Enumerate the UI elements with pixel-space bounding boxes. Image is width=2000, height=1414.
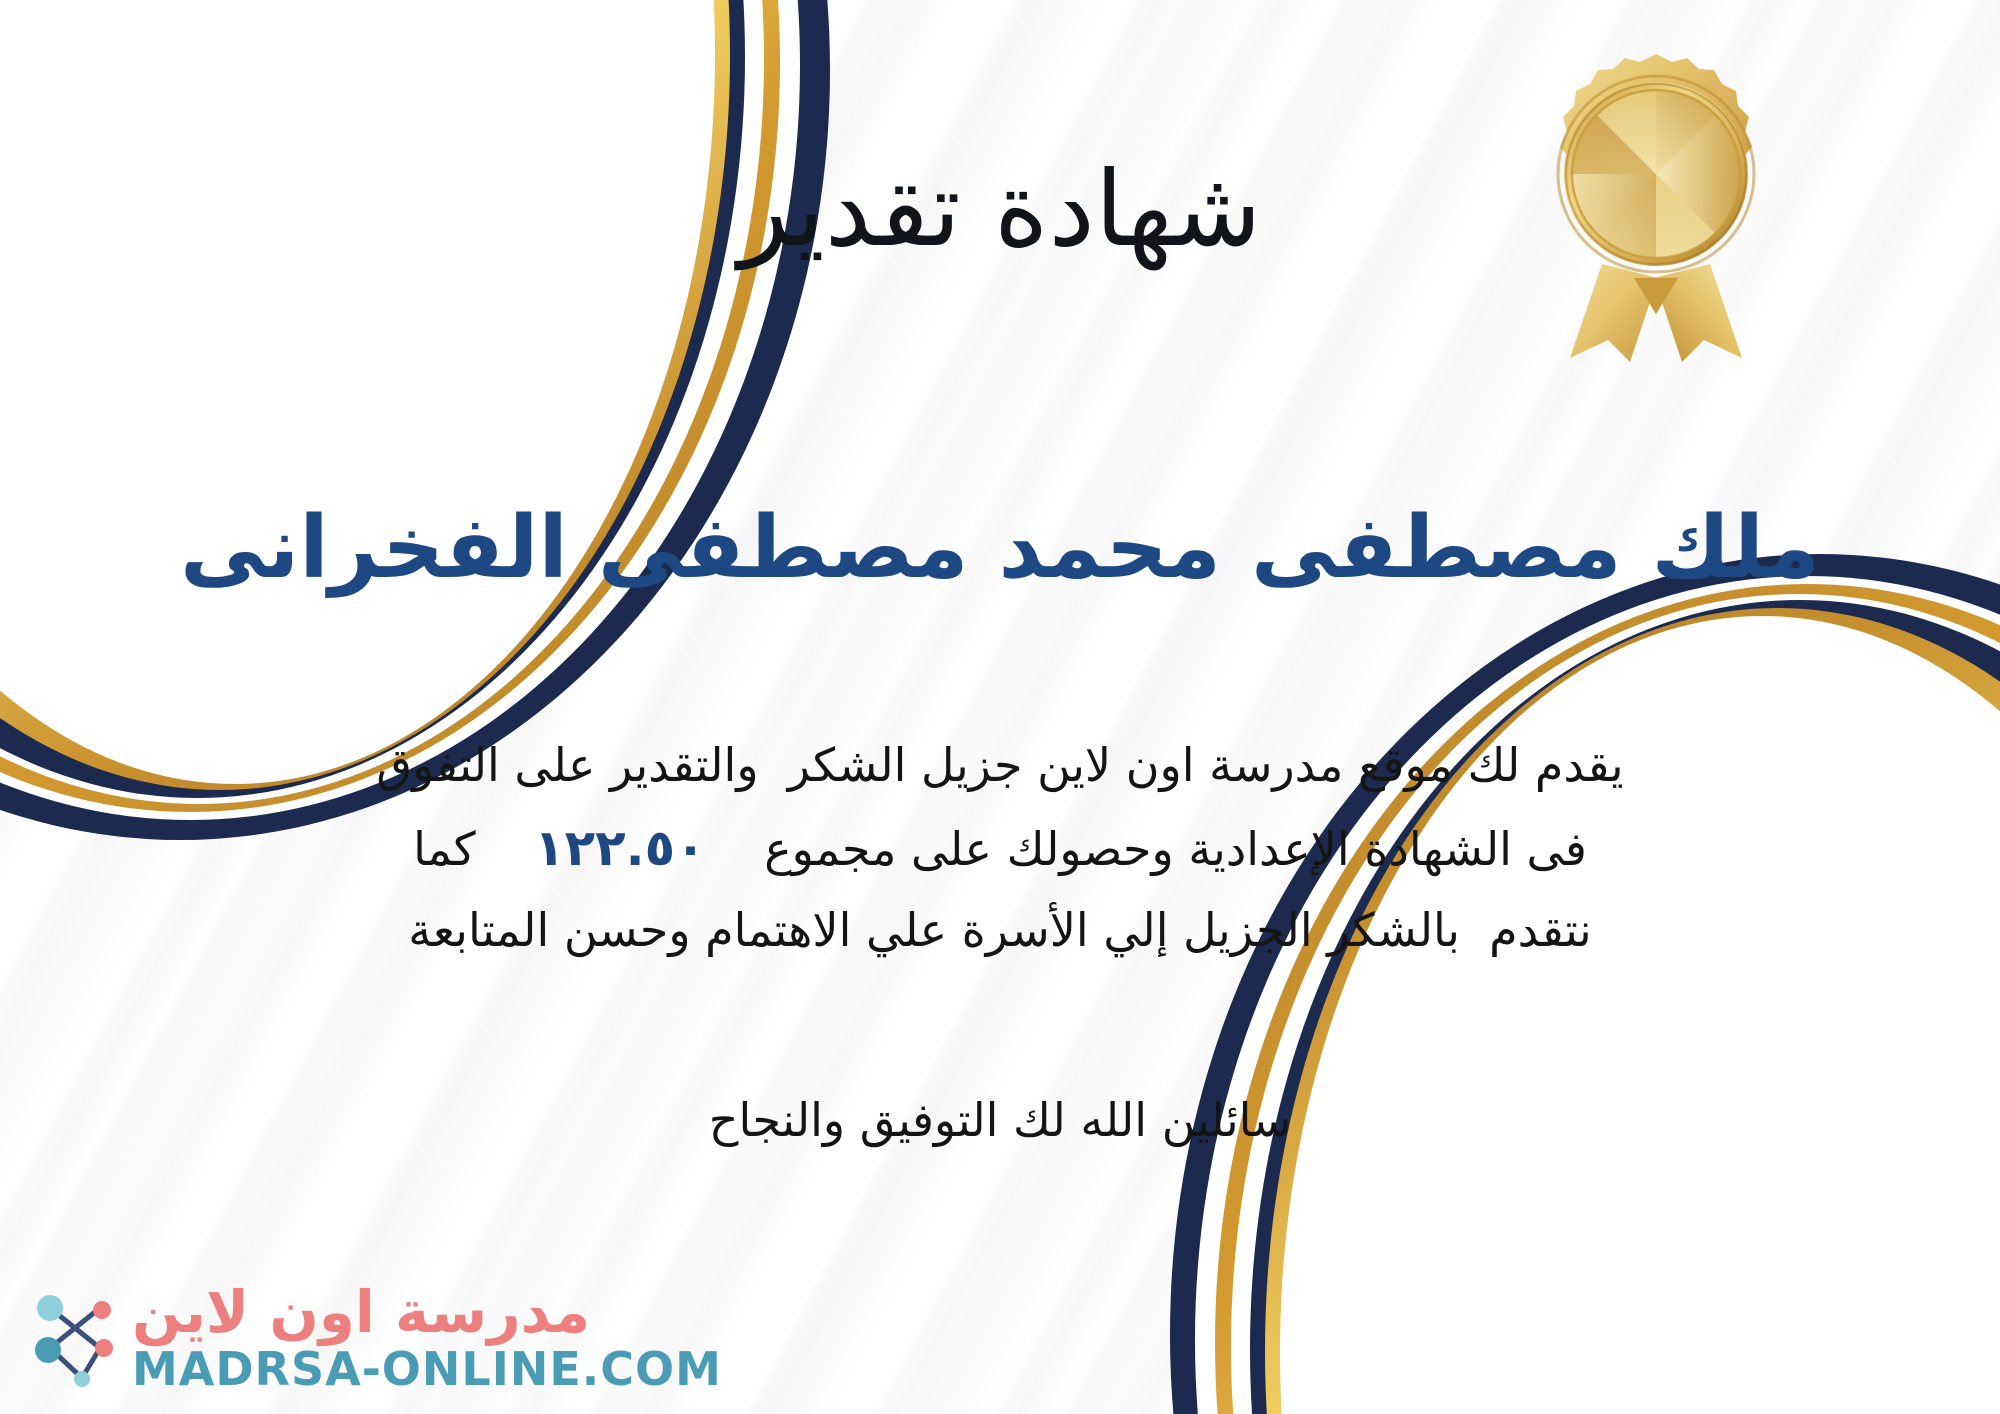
body-line-2-prefix: فى الشهادة الإعدادية وحصولك على مجموع	[706, 822, 1587, 876]
certificate-body: يقدم لك موقع مدرسة اون لاين جزيل الشكر و…	[55, 726, 1945, 970]
brand-website-url: MADRSA-ONLINE.COM	[132, 1344, 722, 1396]
body-line-1: يقدم لك موقع مدرسة اون لاين جزيل الشكر و…	[55, 726, 1945, 805]
brand-logo-texts: مدرسة اون لاين MADRSA-ONLINE.COM	[132, 1280, 722, 1396]
closing-line: سائلين الله لك التوفيق والنجاح	[709, 1093, 1291, 1147]
network-nodes-icon	[26, 1286, 122, 1390]
gold-award-seal-icon	[1530, 52, 1782, 362]
grade-total-value: ١٢٢.٥٠	[534, 819, 706, 877]
closing-wish: سائلين الله لك التوفيق والنجاح	[55, 1084, 1945, 1158]
recipient-name: ملك مصطفى محمد مصطفى الفخرانى	[90, 498, 1910, 599]
brand-logo[interactable]: مدرسة اون لاين MADRSA-ONLINE.COM	[26, 1280, 722, 1396]
body-line-3: نتقدم بالشكر الجزيل إلي الأسرة علي الاهت…	[55, 891, 1945, 970]
brand-arabic-name: مدرسة اون لاين	[132, 1280, 590, 1345]
body-line-2: فى الشهادة الإعدادية وحصولك على مجموع ١٢…	[55, 805, 1945, 891]
body-line-2-suffix: كما	[413, 822, 534, 876]
certificate-page: شهادة تقدير ملك مصطفى محمد مصطفى الفخران…	[0, 0, 2000, 1414]
